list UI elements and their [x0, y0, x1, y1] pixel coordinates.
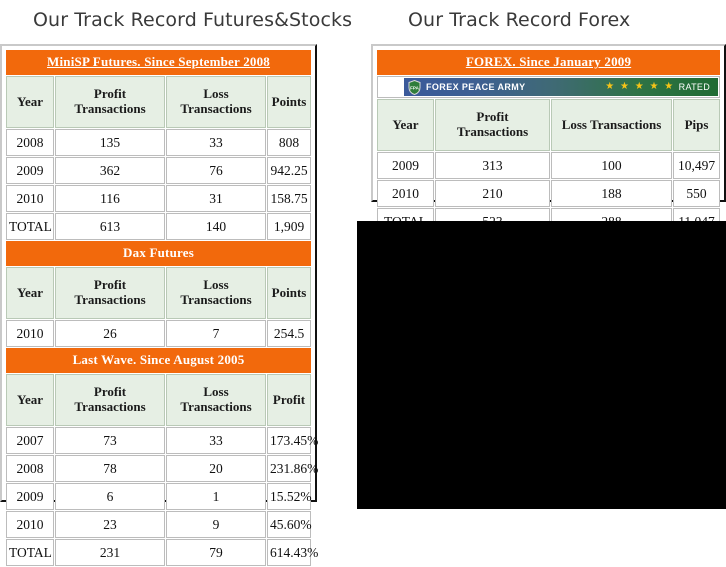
forex-peace-army-award-row: FPA FOREX PEACE ARMY ★ ★ ★ ★ ★ RATED [377, 76, 720, 98]
table-row-total: TOTAL 231 79 614.43% [6, 539, 311, 566]
svg-text:FPA: FPA [410, 85, 419, 90]
rated-label: RATED [679, 82, 710, 92]
cell-loss-transactions: 33 [166, 129, 266, 156]
cell-loss-transactions: 140 [166, 213, 266, 240]
table-row: 2009 362 76 942.25 [6, 157, 311, 184]
award-rating-group: ★ ★ ★ ★ ★ RATED [605, 82, 710, 92]
col-header-line-1: Profit [94, 384, 126, 399]
table-row: 2008 135 33 808 [6, 129, 311, 156]
cell-year: TOTAL [6, 539, 54, 566]
cell-year: 2007 [6, 427, 54, 454]
col-header-year: Year [6, 76, 54, 128]
cell-profit-transactions: 135 [55, 129, 165, 156]
column-header-row-minisp: Year Profit Transactions Loss Transactio… [6, 76, 311, 128]
col-header-profit-transactions: Profit Transactions [55, 374, 165, 426]
page-title-forex: Our Track Record Forex [408, 9, 630, 31]
table-row: 2007 73 33 173.45% [6, 427, 311, 454]
section-banner-last-wave: Last Wave. Since August 2005 [6, 348, 311, 373]
col-header-points: Points [267, 267, 311, 319]
section-banner-dax: Dax Futures [6, 241, 311, 266]
column-header-row-dax: Year Profit Transactions Loss Transactio… [6, 267, 311, 319]
col-header-line-2: Transactions [180, 292, 251, 307]
futures-stocks-table: MiniSP Futures. Since September 2008 Yea… [5, 49, 312, 567]
cell-profit-transactions: 210 [435, 180, 550, 207]
cell-profit: 173.45% [267, 427, 311, 454]
cell-profit-transactions: 73 [55, 427, 165, 454]
cell-profit-transactions: 23 [55, 511, 165, 538]
cell-loss-transactions: 76 [166, 157, 266, 184]
cell-profit: 15.52% [267, 483, 311, 510]
table-row: 2010 26 7 254.5 [6, 320, 311, 347]
cell-profit-transactions: 362 [55, 157, 165, 184]
cell-loss-transactions: 1 [166, 483, 266, 510]
col-header-loss-transactions: Loss Transactions [551, 99, 672, 151]
col-header-line-2: Transactions [74, 399, 145, 414]
cell-year: 2009 [377, 152, 434, 179]
cell-loss-transactions: 79 [166, 539, 266, 566]
cell-year: 2010 [6, 185, 54, 212]
cell-profit-transactions: 613 [55, 213, 165, 240]
cell-year: 2008 [6, 129, 54, 156]
cell-year: 2010 [377, 180, 434, 207]
forex-peace-army-label: FOREX PEACE ARMY [426, 82, 526, 92]
cell-points: 942.25 [267, 157, 311, 184]
col-header-line-2: Transactions [180, 399, 251, 414]
cell-year: 2009 [6, 157, 54, 184]
section-banner-forex: FOREX. Since January 2009 [377, 50, 720, 75]
col-header-pips: Pips [673, 99, 720, 151]
cell-profit: 45.60% [267, 511, 311, 538]
cell-profit: 614.43% [267, 539, 311, 566]
forex-table: FOREX. Since January 2009 FPA FOREX PEAC… [376, 49, 721, 236]
col-header-line-1: Profit [94, 86, 126, 101]
cell-profit: 231.86% [267, 455, 311, 482]
col-header-profit: Profit [267, 374, 311, 426]
col-header-loss-transactions: Loss Transactions [166, 267, 266, 319]
col-header-line-2: Transactions [180, 101, 251, 116]
col-header-line-2: Transactions [74, 101, 145, 116]
col-header-year: Year [6, 374, 54, 426]
table-row-total: TOTAL 613 140 1,909 [6, 213, 311, 240]
futures-stocks-panel: MiniSP Futures. Since September 2008 Yea… [0, 44, 317, 502]
video-placeholder[interactable] [357, 221, 726, 509]
col-header-line-2: Transactions [74, 292, 145, 307]
cell-points: 254.5 [267, 320, 311, 347]
col-header-year: Year [6, 267, 54, 319]
cell-loss-transactions: 9 [166, 511, 266, 538]
cell-loss-transactions: 188 [551, 180, 672, 207]
col-header-points: Points [267, 76, 311, 128]
col-header-profit-transactions: Profit Transactions [55, 76, 165, 128]
page-title-futures-stocks: Our Track Record Futures&Stocks [33, 9, 352, 31]
col-header-line-1: Profit [94, 277, 126, 292]
cell-profit-transactions: 231 [55, 539, 165, 566]
cell-loss-transactions: 33 [166, 427, 266, 454]
section-banner-minisp-label: MiniSP Futures. Since September 2008 [47, 54, 270, 69]
cell-profit-transactions: 6 [55, 483, 165, 510]
forex-peace-army-badge[interactable]: FPA FOREX PEACE ARMY ★ ★ ★ ★ ★ RATED [404, 78, 718, 96]
col-header-profit-transactions: Profit Transactions [55, 267, 165, 319]
col-header-year: Year [377, 99, 434, 151]
col-header-line-2: Transactions [457, 124, 528, 139]
star-rating-icon: ★ ★ ★ ★ ★ [605, 82, 674, 92]
cell-points: 1,909 [267, 213, 311, 240]
table-row: 2008 78 20 231.86% [6, 455, 311, 482]
cell-year: 2008 [6, 455, 54, 482]
cell-profit-transactions: 78 [55, 455, 165, 482]
cell-loss-transactions: 31 [166, 185, 266, 212]
col-header-line-1: Profit [476, 109, 508, 124]
cell-year: 2009 [6, 483, 54, 510]
cell-year: 2010 [6, 320, 54, 347]
cell-profit-transactions: 313 [435, 152, 550, 179]
shield-icon: FPA [408, 80, 421, 95]
cell-points: 158.75 [267, 185, 311, 212]
cell-loss-transactions: 7 [166, 320, 266, 347]
col-header-line-1: Loss [203, 277, 228, 292]
table-row: 2009 313 100 10,497 [377, 152, 720, 179]
cell-points: 808 [267, 129, 311, 156]
section-banner-minisp: MiniSP Futures. Since September 2008 [6, 50, 311, 75]
forex-panel: FOREX. Since January 2009 FPA FOREX PEAC… [371, 44, 726, 202]
table-row: 2009 6 1 15.52% [6, 483, 311, 510]
col-header-profit-transactions: Profit Transactions [435, 99, 550, 151]
col-header-line-1: Loss [203, 86, 228, 101]
cell-loss-transactions: 100 [551, 152, 672, 179]
section-banner-last-wave-label: Last Wave. Since August 2005 [73, 352, 245, 367]
section-banner-forex-label: FOREX. Since January 2009 [466, 54, 631, 69]
table-row: 2010 116 31 158.75 [6, 185, 311, 212]
column-header-row-forex: Year Profit Transactions Loss Transactio… [377, 99, 720, 151]
table-row: 2010 23 9 45.60% [6, 511, 311, 538]
column-header-row-last-wave: Year Profit Transactions Loss Transactio… [6, 374, 311, 426]
cell-loss-transactions: 20 [166, 455, 266, 482]
section-banner-dax-label: Dax Futures [123, 245, 194, 260]
cell-profit-transactions: 116 [55, 185, 165, 212]
col-header-loss-transactions: Loss Transactions [166, 76, 266, 128]
table-row: 2010 210 188 550 [377, 180, 720, 207]
cell-year: TOTAL [6, 213, 54, 240]
cell-profit-transactions: 26 [55, 320, 165, 347]
col-header-loss-transactions: Loss Transactions [166, 374, 266, 426]
cell-pips: 10,497 [673, 152, 720, 179]
cell-year: 2010 [6, 511, 54, 538]
cell-pips: 550 [673, 180, 720, 207]
col-header-line-1: Loss [203, 384, 228, 399]
